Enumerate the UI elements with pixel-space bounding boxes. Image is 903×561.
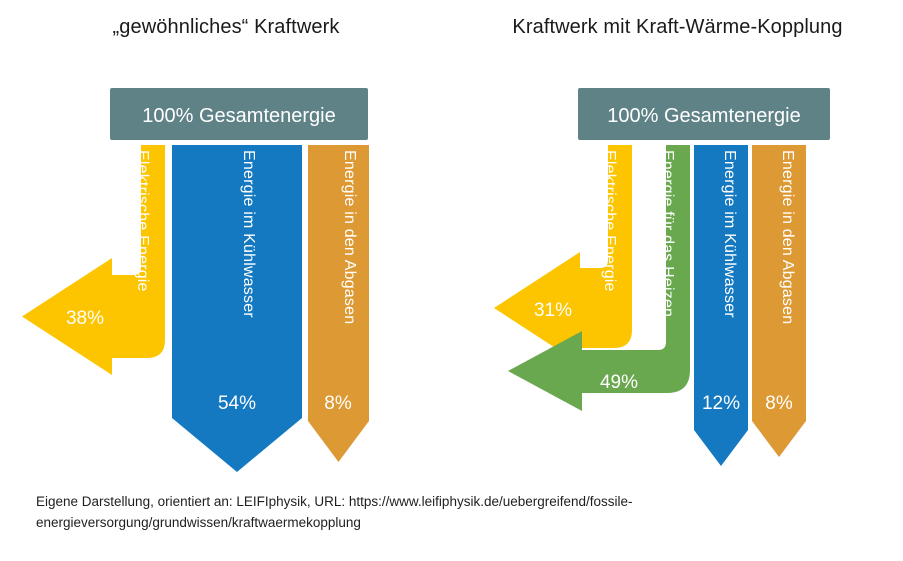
right-total-label: 100% Gesamtenergie <box>607 105 800 127</box>
left-flow-cooling-label: Energie im Kühlwasser <box>240 150 257 318</box>
left-flow-exhaust-label: Energie in den Abgasen <box>341 150 358 324</box>
right-flow-exhaust-pct: 8% <box>765 393 793 414</box>
right-diagram: 100% Gesamtenergie Elektrische Energie 3… <box>494 88 830 466</box>
left-flow-electric-label: Elektrische Energie <box>134 150 151 292</box>
left-flow-electric-pct: 38% <box>66 308 104 329</box>
diagram-canvas: „gewöhnliches“ Kraftwerk Kraftwerk mit K… <box>0 0 903 561</box>
right-flow-electric-pct: 31% <box>534 300 572 321</box>
left-flow-cooling-pct: 54% <box>218 393 256 414</box>
left-flow-cooling <box>172 145 302 472</box>
right-flow-heating-label: Energie für das Heizen <box>659 150 676 317</box>
right-flow-heating-pct: 49% <box>600 372 638 393</box>
left-flow-exhaust <box>308 145 369 462</box>
left-diagram: 100% Gesamtenergie Elektrische Energie 3… <box>22 88 369 472</box>
right-flow-cooling <box>694 145 748 466</box>
left-total-label: 100% Gesamtenergie <box>142 105 335 127</box>
caption-line-1: Eigene Darstellung, orientiert an: LEIFI… <box>36 494 633 509</box>
right-flow-exhaust-label: Energie in den Abgasen <box>779 150 796 324</box>
source-caption: Eigene Darstellung, orientiert an: LEIFI… <box>36 492 736 534</box>
right-flow-electric-label: Elektrische Energie <box>601 150 618 292</box>
right-flow-cooling-label: Energie im Kühlwasser <box>721 150 738 318</box>
right-flow-cooling-pct: 12% <box>702 393 740 414</box>
left-flow-exhaust-pct: 8% <box>324 393 352 414</box>
caption-line-2: energieversorgung/grundwissen/kraftwaerm… <box>36 515 361 530</box>
energy-flow-svg: 100% Gesamtenergie Elektrische Energie 3… <box>0 0 903 561</box>
